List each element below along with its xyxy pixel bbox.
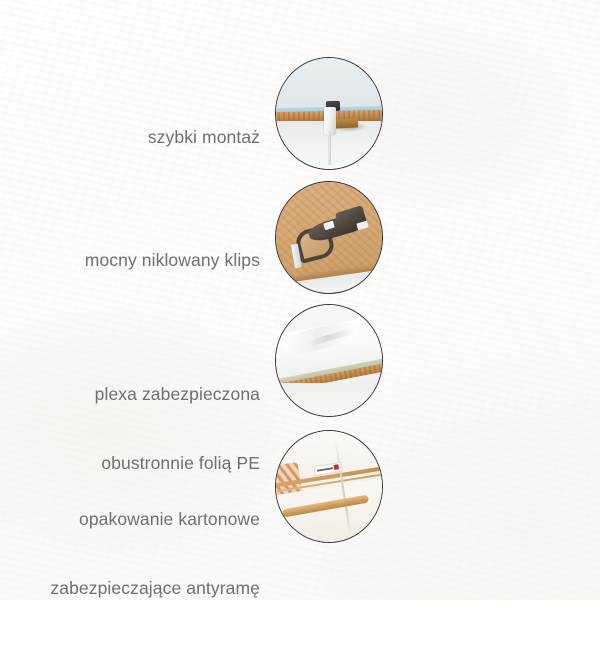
feature-label-line: plexa zabezpieczona [95, 383, 260, 406]
sticker-logo-mark [333, 465, 339, 471]
nickel-clip-photo [275, 181, 383, 294]
clip-leg-shape [328, 131, 331, 164]
feature-label-line: zabezpieczające antyramę [50, 577, 260, 600]
plexi-pe-film-photo [275, 304, 383, 417]
sticker-text-bar [317, 467, 333, 472]
brass-spring-shape [335, 118, 359, 128]
feature-label-line: mocny niklowany klips [85, 250, 260, 270]
cardboard-packaging-photo [275, 430, 383, 543]
feature-label-opakowanie-kartonowe: opakowanie kartonowe zabezpieczające ant… [50, 462, 260, 646]
feature-label-mocny-niklowany-klips: mocny niklowany klips [55, 226, 260, 295]
feature-label-line: opakowanie kartonowe [50, 508, 260, 531]
feature-label-line: szybki montaż [148, 127, 260, 147]
product-features-infographic: szybki montaż mocny niklowany klips [0, 0, 600, 600]
table-surface-shape [276, 383, 382, 416]
feature-label-szybki-montaz: szybki montaż [118, 103, 260, 172]
clip-on-frame-edge-photo [275, 57, 383, 170]
